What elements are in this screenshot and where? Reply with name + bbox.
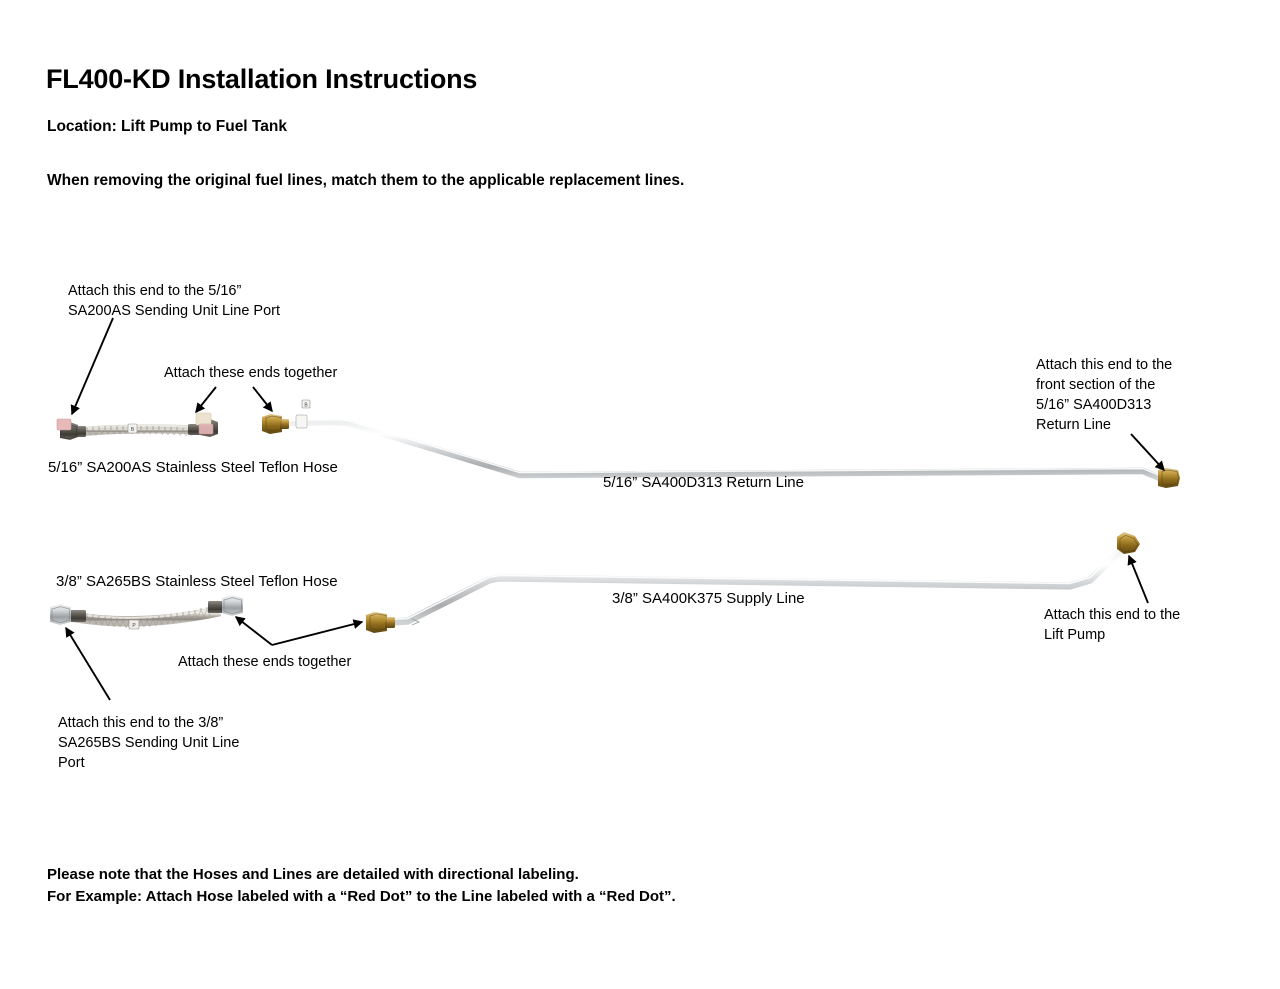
svg-text:P: P: [132, 623, 136, 629]
arrow-upper-line-end: [1131, 434, 1164, 470]
lower-supply-line: [366, 532, 1140, 633]
label-lower-line: 3/8” SA400K375 Supply Line: [612, 590, 805, 607]
lower-braided-hose: P: [50, 595, 243, 629]
instruction-text: When removing the original fuel lines, m…: [47, 172, 684, 190]
line-id-block-upper: [302, 400, 310, 408]
svg-text:B: B: [131, 427, 135, 433]
location-subtitle: Location: Lift Pump to Fuel Tank: [47, 118, 287, 136]
arrow-upper-hose-end: [72, 318, 113, 414]
tag-white-upper-line: [296, 415, 307, 428]
hose-id-band-upper: [128, 424, 137, 433]
label-lower-hose: 3/8” SA265BS Stainless Steel Teflon Hose: [56, 573, 338, 590]
upper-braided-hose: B: [57, 413, 218, 440]
arrow-lower-line-end: [1129, 556, 1148, 603]
brass-fitting-upper-line-left: [262, 414, 289, 434]
label-upper-line: 5/16” SA400D313 Return Line: [603, 474, 804, 491]
footer-note-line-1: Please note that the Hoses and Lines are…: [47, 866, 579, 883]
hose-id-band-lower: [129, 620, 139, 629]
brass-fitting-lower-line-left: [366, 612, 395, 633]
footer-note-line-2: For Example: Attach Hose labeled with a …: [47, 888, 676, 905]
lower-assembly-artwork: P: [50, 532, 1148, 700]
steel-fitting-lower-hose-left: [50, 604, 86, 625]
steel-fitting-lower-hose-right: [208, 595, 243, 616]
callout-upper-line-end: Attach this end to the front section of …: [1036, 355, 1172, 435]
page-title: FL400-KD Installation Instructions: [46, 64, 477, 95]
label-upper-hose: 5/16” SA200AS Stainless Steel Teflon Hos…: [48, 459, 338, 476]
callout-lower-hose-end: Attach this end to the 3/8” SA265BS Send…: [58, 713, 239, 773]
installation-instruction-page: B B: [0, 0, 1280, 989]
callout-lower-join: Attach these ends together: [178, 652, 351, 672]
arrow-lower-hose-end: [66, 628, 110, 700]
callout-lower-line-end: Attach this end to the Lift Pump: [1044, 605, 1180, 645]
brass-fitting-upper-line-right: [1158, 468, 1180, 488]
tag-red-upper-hose-left: [57, 419, 71, 430]
arrow-upper-join-hose: [196, 387, 216, 412]
tag-upper-hose-right: [196, 413, 211, 425]
svg-text:B: B: [304, 402, 308, 408]
callout-upper-join: Attach these ends together: [164, 363, 337, 383]
fuel-line-diagram: B B: [0, 0, 1280, 989]
brass-fitting-lower-line-right: [1117, 532, 1140, 554]
arrow-lower-join-line: [272, 622, 362, 645]
arrow-upper-join-line: [253, 387, 272, 411]
arrow-lower-join-hose: [236, 617, 272, 645]
callout-upper-hose-end: Attach this end to the 5/16” SA200AS Sen…: [68, 281, 280, 321]
